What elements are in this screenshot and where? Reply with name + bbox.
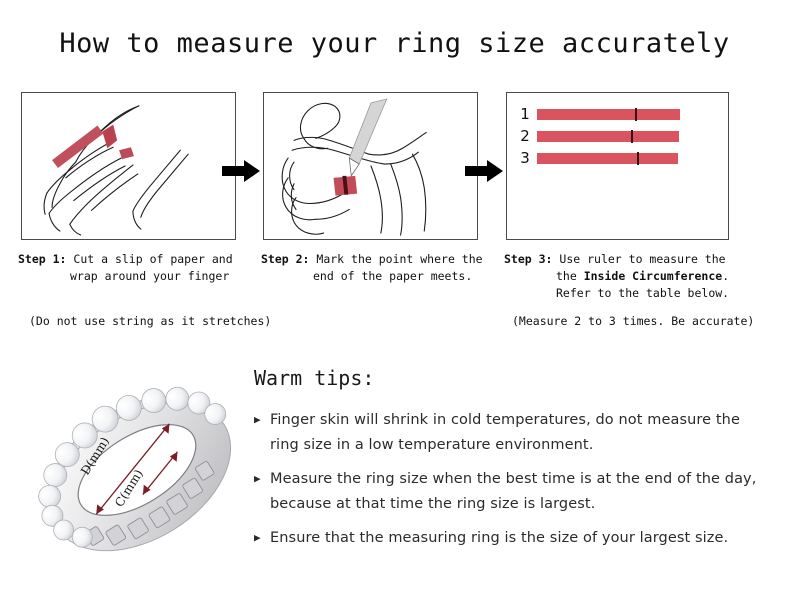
strip-mark xyxy=(637,152,639,165)
pen-shape xyxy=(349,99,386,176)
paper-strip xyxy=(537,153,678,164)
inside-circumference-emphasis: Inside Circumference xyxy=(584,269,722,283)
paper-strip xyxy=(537,131,679,142)
step-2-line2: end of the paper meets. xyxy=(313,269,472,283)
step-1-caption: Step 1: Cut a slip of paper and wrap aro… xyxy=(18,251,258,285)
warm-tips-heading: Warm tips: xyxy=(254,366,764,390)
step-2-illustration-panel xyxy=(263,92,478,240)
step-3-line1: Use ruler to measure the xyxy=(559,252,725,266)
page-title: How to measure your ring size accurately xyxy=(0,28,789,59)
measured-strip-row: 3 xyxy=(517,151,678,166)
step-2-label: Step 2: xyxy=(261,252,309,266)
arrow-step1-to-step2 xyxy=(222,160,262,182)
warm-tips-section: Warm tips: ▶ Finger skin will shrink in … xyxy=(254,366,764,560)
strip-mark xyxy=(635,108,637,121)
step-1-line1: Cut a slip of paper and xyxy=(73,252,232,266)
strip-number: 2 xyxy=(517,129,533,144)
step-2-line1: Mark the point where the xyxy=(316,252,482,266)
step-3-line3: Refer to the table below. xyxy=(556,286,729,300)
measured-strip-row: 1 xyxy=(517,107,680,122)
ring-size-guide-page: How to measure your ring size accurately xyxy=(0,0,789,606)
step-1-illustration-panel xyxy=(21,92,236,240)
ring-diagram: D(mm) C(mm) xyxy=(30,362,245,577)
tip-text: Measure the ring size when the best time… xyxy=(270,467,764,517)
strip-number: 3 xyxy=(517,151,533,166)
step-2-caption: Step 2: Mark the point where the end of … xyxy=(261,251,501,285)
strip-mark xyxy=(631,130,633,143)
triangle-bullet-icon: ▶ xyxy=(254,526,270,550)
paper-slip-shape xyxy=(52,125,134,168)
triangle-bullet-icon: ▶ xyxy=(254,467,270,491)
arrow-step2-to-step3 xyxy=(465,160,505,182)
step-3-line2-suffix: . xyxy=(722,269,729,283)
step-3-illustration-panel: 1 2 3 xyxy=(506,92,729,240)
paper-strip xyxy=(537,109,680,120)
marked-paper-band xyxy=(334,176,358,196)
step-3-line2-prefix: the xyxy=(556,269,584,283)
step-1-line2: wrap around your finger xyxy=(70,269,229,283)
step-3-note: (Measure 2 to 3 times. Be accurate) xyxy=(512,313,754,329)
tip-item: ▶ Ensure that the measuring ring is the … xyxy=(254,526,764,551)
step-3-label: Step 3: xyxy=(504,252,552,266)
tip-text: Ensure that the measuring ring is the si… xyxy=(270,526,728,551)
tip-text: Finger skin will shrink in cold temperat… xyxy=(270,408,764,458)
step-3-caption: Step 3: Use ruler to measure the the Ins… xyxy=(504,251,754,302)
tip-item: ▶ Measure the ring size when the best ti… xyxy=(254,467,764,517)
step-1-note: (Do not use string as it stretches) xyxy=(29,313,271,329)
triangle-bullet-icon: ▶ xyxy=(254,408,270,432)
hand-with-paper-slip-drawing xyxy=(22,93,235,239)
tip-item: ▶ Finger skin will shrink in cold temper… xyxy=(254,408,764,458)
step-1-label: Step 1: xyxy=(18,252,66,266)
strip-number: 1 xyxy=(517,107,533,122)
hand-marking-paper-drawing xyxy=(264,93,477,239)
measured-strip-row: 2 xyxy=(517,129,679,144)
